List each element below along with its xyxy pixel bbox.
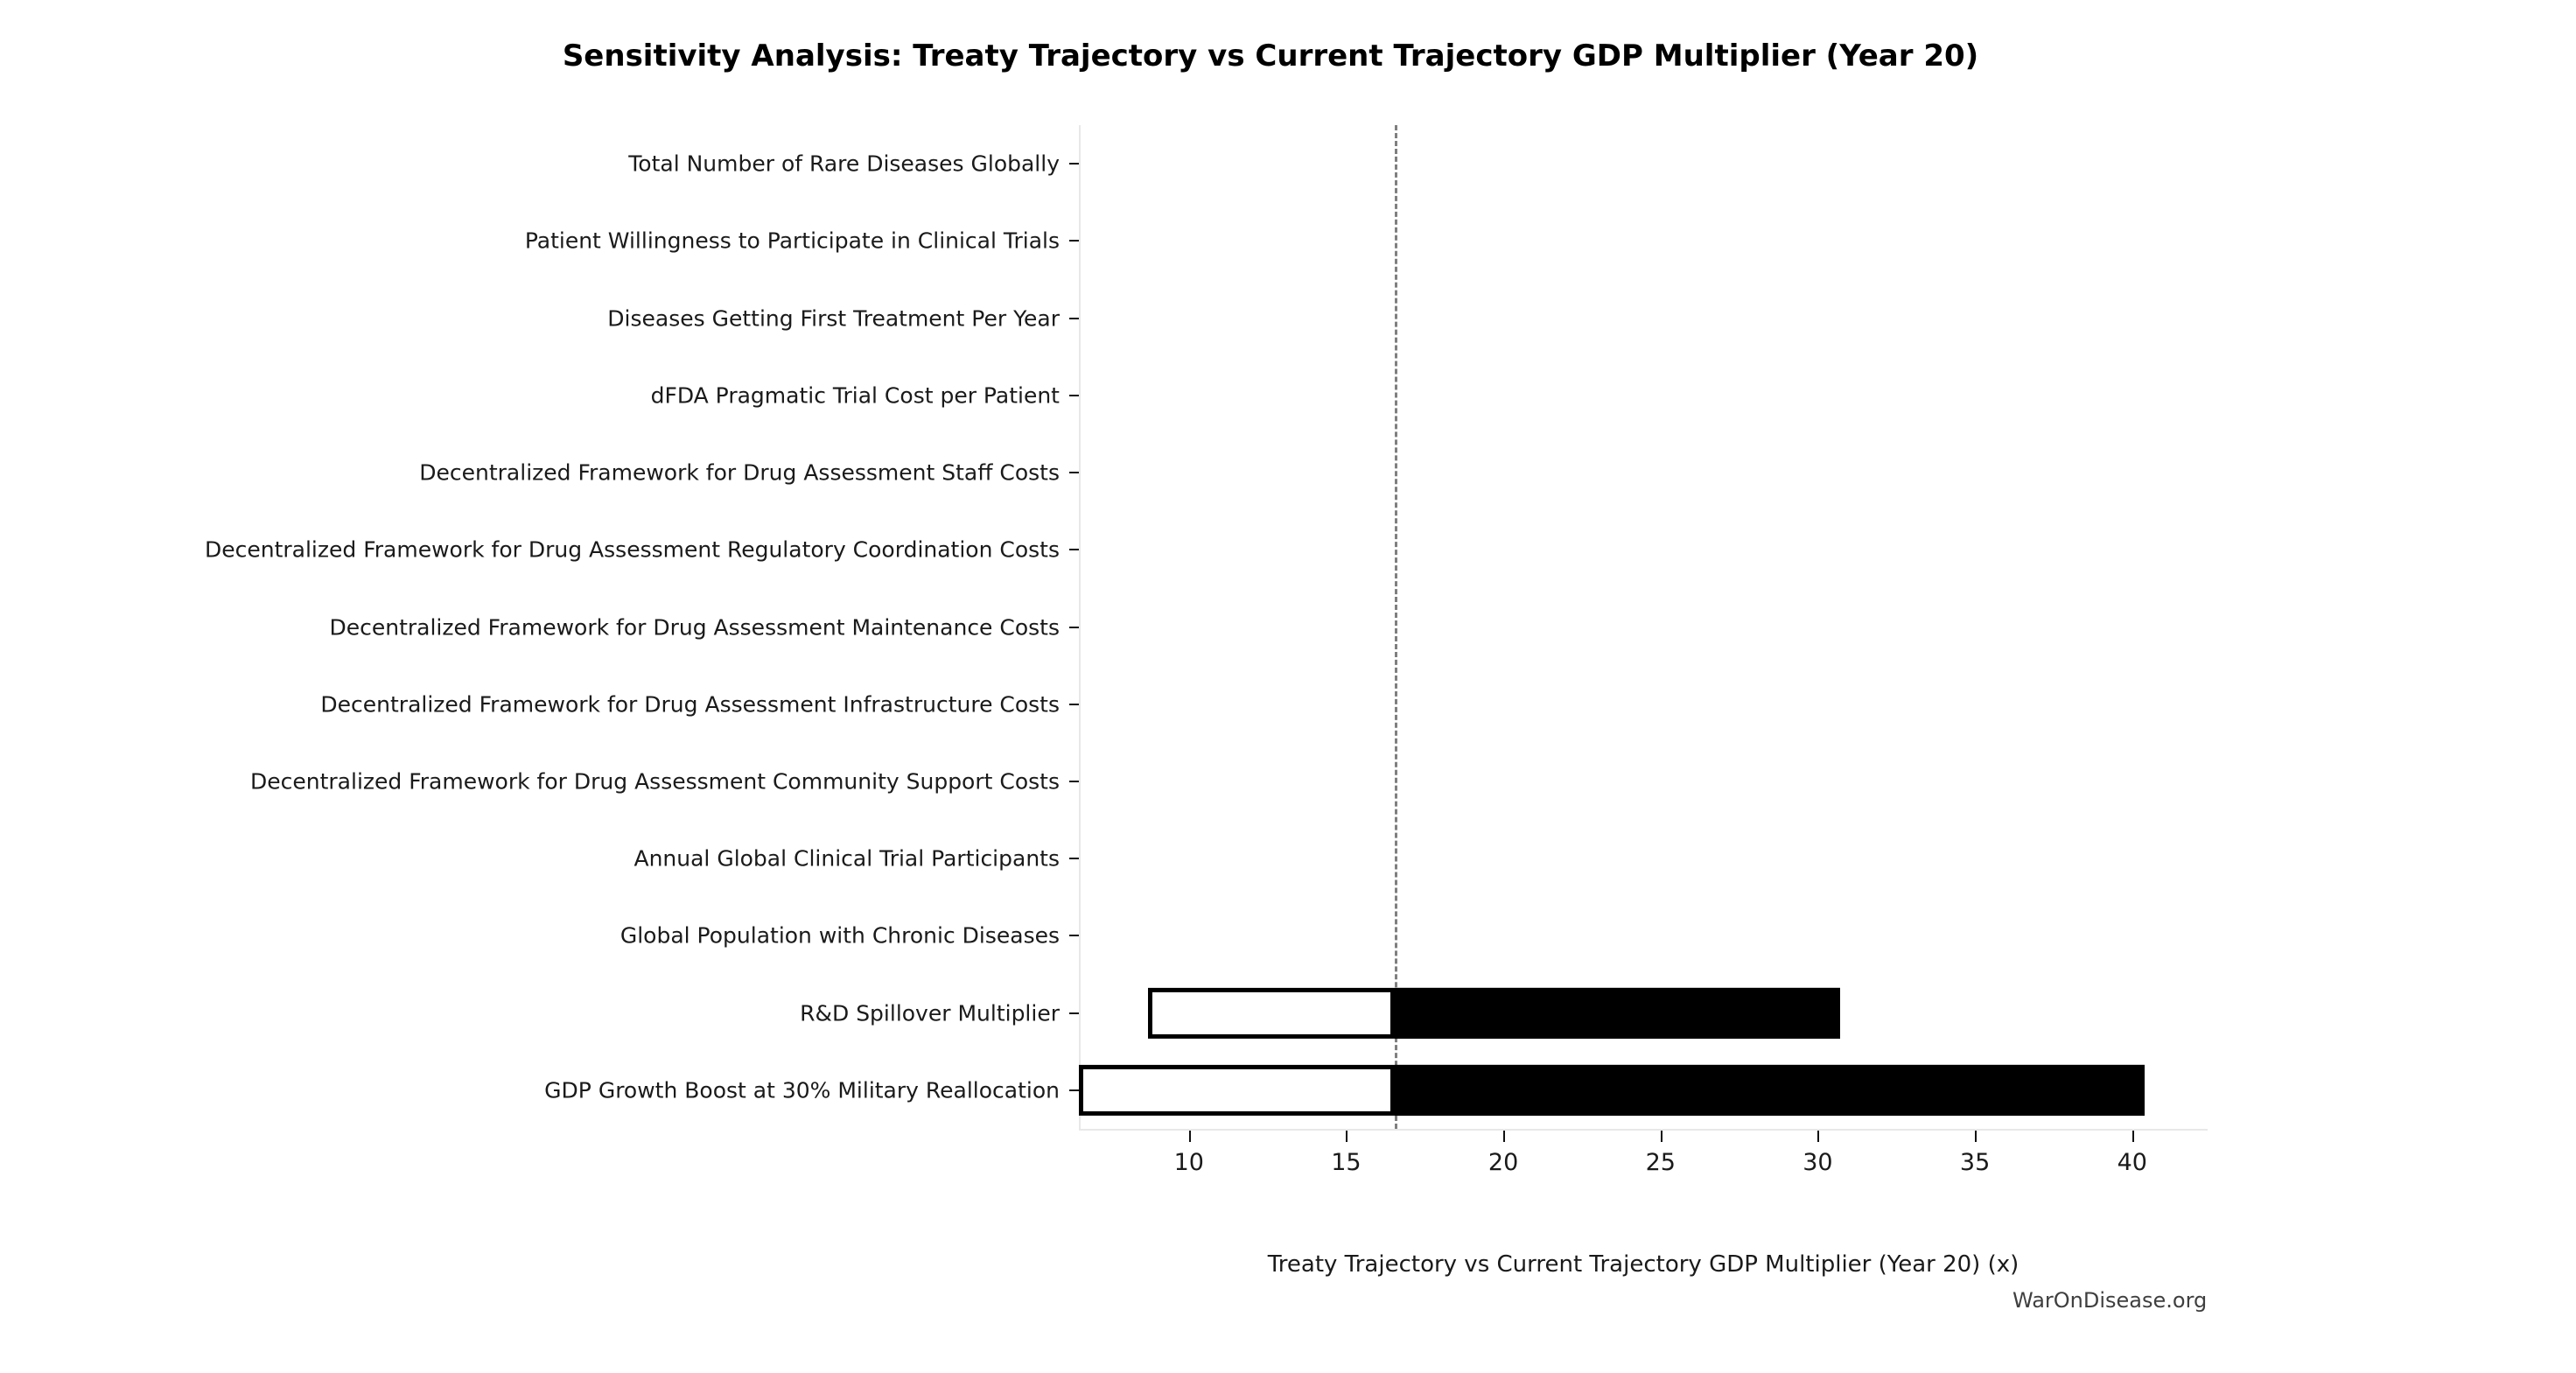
y-axis-tick <box>1069 163 1079 165</box>
plot-area: Total Number of Rare Diseases GloballyPa… <box>1079 125 2208 1129</box>
y-axis-category-label: Annual Global Clinical Trial Participant… <box>633 846 1079 872</box>
y-axis-tick <box>1069 318 1079 319</box>
y-axis-tick <box>1069 627 1079 628</box>
y-axis-category-label: Patient Willingness to Participate in Cl… <box>525 228 1079 254</box>
x-axis-tick <box>1503 1131 1505 1142</box>
x-axis-tick-label: 40 <box>2117 1149 2147 1176</box>
x-axis-tick-label: 20 <box>1488 1149 1518 1176</box>
page-title: Sensitivity Analysis: Treaty Trajectory … <box>0 39 2576 74</box>
bar-segment-low <box>1079 1065 1395 1116</box>
x-axis-tick-label: 30 <box>1802 1149 1832 1176</box>
x-axis-tick <box>1975 1131 1977 1142</box>
y-axis-category-label: dFDA Pragmatic Trial Cost per Patient <box>651 382 1079 408</box>
bar-row <box>1079 988 2208 1039</box>
x-axis-tick <box>1661 1131 1662 1142</box>
y-axis-category-label: Global Population with Chronic Diseases <box>620 923 1079 949</box>
x-axis-tick-label: 25 <box>1646 1149 1676 1176</box>
bar-segment-high <box>1395 1065 2145 1116</box>
axis-spine-bottom <box>1079 1129 2208 1131</box>
bar-segment-high <box>1395 988 1840 1039</box>
x-axis-tick <box>2132 1131 2134 1142</box>
y-axis-tick <box>1069 1089 1079 1091</box>
x-axis-tick <box>1817 1131 1819 1142</box>
x-axis-tick-label: 35 <box>1960 1149 1990 1176</box>
footer-watermark: WarOnDisease.org <box>2012 1288 2207 1313</box>
y-axis-category-label: Decentralized Framework for Drug Assessm… <box>329 614 1079 640</box>
y-axis-tick <box>1069 1012 1079 1014</box>
y-axis-tick <box>1069 472 1079 473</box>
y-axis-category-label: GDP Growth Boost at 30% Military Realloc… <box>544 1077 1079 1103</box>
y-axis-tick <box>1069 781 1079 782</box>
y-axis-category-label: Decentralized Framework for Drug Assessm… <box>320 691 1079 717</box>
x-axis-tick <box>1346 1131 1347 1142</box>
baseline-reference-line <box>1395 125 1397 1129</box>
y-axis-tick <box>1069 395 1079 396</box>
y-axis-category-label: Decentralized Framework for Drug Assessm… <box>419 460 1079 486</box>
x-axis-tick-label: 10 <box>1174 1149 1204 1176</box>
y-axis-category-label: Diseases Getting First Treatment Per Yea… <box>607 305 1079 331</box>
bar-segment-low <box>1148 988 1395 1039</box>
y-axis-tick <box>1069 549 1079 550</box>
x-axis-tick-label: 15 <box>1331 1149 1361 1176</box>
y-axis-category-label: R&D Spillover Multiplier <box>800 1000 1079 1026</box>
y-axis-category-label: Total Number of Rare Diseases Globally <box>628 151 1079 177</box>
axis-spine-left <box>1079 125 1081 1129</box>
bar-row <box>1079 1065 2208 1116</box>
x-axis-tick <box>1189 1131 1191 1142</box>
y-axis-tick <box>1069 858 1079 859</box>
y-axis-tick <box>1069 935 1079 936</box>
y-axis-tick <box>1069 240 1079 242</box>
y-axis-tick <box>1069 704 1079 705</box>
y-axis-category-label: Decentralized Framework for Drug Assessm… <box>250 768 1079 794</box>
x-axis-title: Treaty Trajectory vs Current Trajectory … <box>1079 1251 2208 1278</box>
y-axis-category-label: Decentralized Framework for Drug Assessm… <box>205 537 1079 563</box>
